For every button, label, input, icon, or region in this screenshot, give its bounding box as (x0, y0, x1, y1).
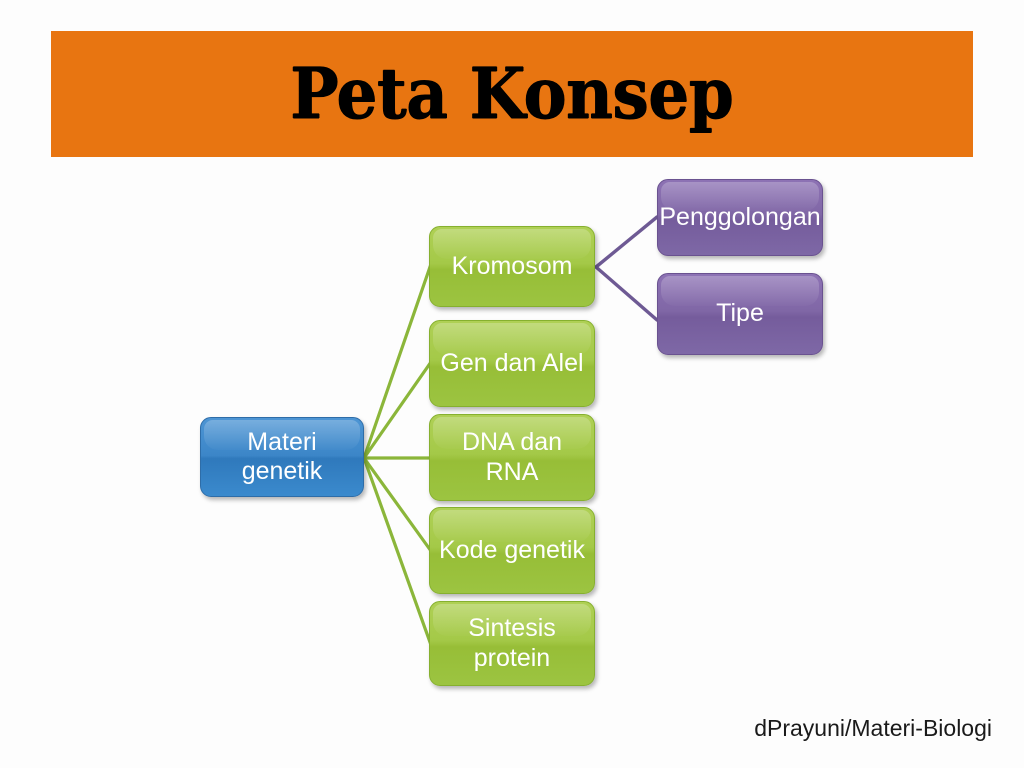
title-banner: Peta Konsep (51, 31, 973, 157)
node-kromosom-label: Kromosom (452, 252, 573, 282)
node-penggolongan-label: Penggolongan (659, 203, 820, 233)
node-kode-genetik[interactable]: Kode genetik (429, 507, 595, 594)
node-tipe-label: Tipe (716, 299, 764, 329)
node-dna-dan-rna-label: DNA dan RNA (438, 428, 586, 487)
footer-credit: dPrayuni/Materi-Biologi (754, 715, 992, 742)
connector-kromosom-penggolongan (596, 217, 657, 267)
node-gen-dan-alel-label: Gen dan Alel (440, 349, 583, 379)
node-materi-genetik-label: Materi genetik (209, 428, 355, 487)
slide-canvas: Peta Konsep Materi genetik Kromosom Gen … (0, 0, 1024, 768)
node-sintesis-protein-label: Sintesis protein (438, 614, 586, 673)
kromosom-connectors (596, 217, 657, 320)
page-title: Peta Konsep (290, 59, 733, 129)
node-kode-genetik-label: Kode genetik (439, 536, 585, 566)
node-penggolongan[interactable]: Penggolongan (657, 179, 823, 256)
root-connectors (364, 264, 431, 645)
node-materi-genetik[interactable]: Materi genetik (200, 417, 364, 497)
connector-materi-kromosom (364, 264, 431, 458)
connector-materi-gen (364, 362, 431, 458)
connector-materi-sintesis (364, 458, 431, 645)
node-tipe[interactable]: Tipe (657, 273, 823, 355)
connector-kromosom-tipe (596, 267, 657, 320)
node-dna-dan-rna[interactable]: DNA dan RNA (429, 414, 595, 501)
node-gen-dan-alel[interactable]: Gen dan Alel (429, 320, 595, 407)
connector-materi-kode (364, 458, 431, 551)
node-sintesis-protein[interactable]: Sintesis protein (429, 601, 595, 686)
node-kromosom[interactable]: Kromosom (429, 226, 595, 307)
